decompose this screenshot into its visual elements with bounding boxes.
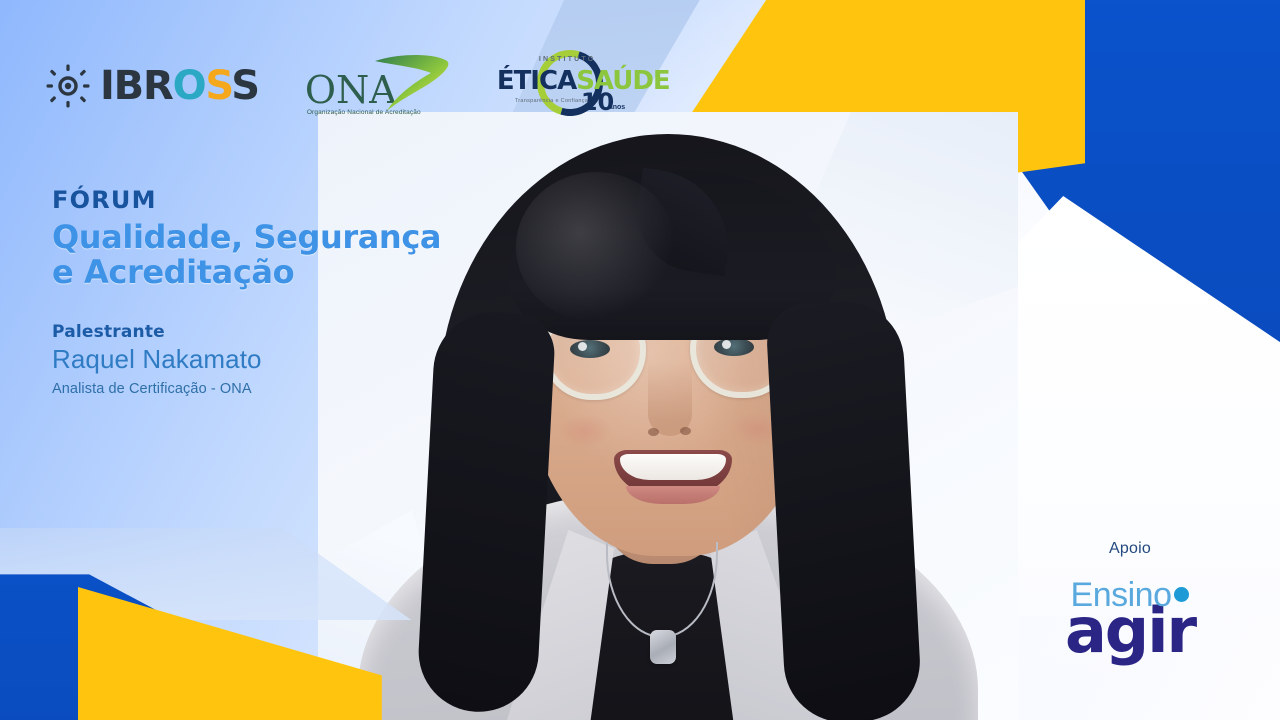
- logo-ibross[interactable]: IBROSS: [46, 64, 259, 108]
- ibross-part-3: S: [205, 63, 231, 109]
- speaker-block: Palestrante Raquel Nakamato Analista de …: [52, 322, 262, 397]
- logo-ibross-wordmark: IBROSS: [100, 66, 259, 106]
- etica-word-part-1: ÉTICA: [497, 66, 576, 96]
- logo-ona[interactable]: ONA Organização Nacional de Acreditação: [303, 49, 453, 123]
- slide-stage: IBROSS ONA Organização Nacional de: [0, 0, 1280, 720]
- necklace-pendant: [650, 630, 676, 664]
- etica-eyebrow: INSTITUTO: [539, 56, 596, 63]
- title-block: FÓRUM Qualidade, Segurança e Acreditação: [52, 186, 441, 289]
- logo-ensino-agir[interactable]: Ensino agir: [1040, 578, 1220, 664]
- headline-line-2: e Acreditação: [52, 255, 441, 290]
- speaker-label: Palestrante: [52, 322, 262, 342]
- teeth: [620, 454, 726, 480]
- support-label: Apoio: [1040, 540, 1220, 558]
- headline-line-1: Qualidade, Segurança: [52, 220, 441, 255]
- ensino-wordmark: Ensino: [1071, 578, 1172, 612]
- ibross-part-2: O: [173, 63, 206, 109]
- speaker-name: Raquel Nakamato: [52, 344, 262, 375]
- hair-strand-left: [416, 309, 557, 715]
- nostril-right: [680, 427, 691, 435]
- ibross-part-1: IBR: [100, 63, 173, 109]
- event-headline: Qualidade, Segurança e Acreditação: [52, 220, 441, 289]
- logo-etica-saude[interactable]: INSTITUTO ÉTICASAÚDE Transparência e Con…: [497, 46, 642, 126]
- nose: [648, 362, 692, 436]
- etica-anniversary-unit: anos: [609, 104, 625, 111]
- sunburst-icon: [46, 64, 90, 108]
- speaker-role: Analista de Certificação - ONA: [52, 381, 262, 397]
- support-block: Apoio Ensino agir: [1040, 540, 1220, 664]
- etica-tagline: Transparência e Confiança: [515, 98, 588, 104]
- cheek-left: [558, 414, 612, 448]
- logo-ona-subtitle: Organização Nacional de Acreditação: [307, 109, 421, 116]
- nostril-left: [648, 428, 659, 436]
- ibross-part-4: S: [231, 63, 259, 109]
- hair-sheen: [516, 172, 676, 322]
- hair-strand-right: [765, 299, 923, 720]
- event-kicker: FÓRUM: [52, 186, 441, 214]
- partner-logo-row: IBROSS ONA Organização Nacional de: [46, 46, 642, 126]
